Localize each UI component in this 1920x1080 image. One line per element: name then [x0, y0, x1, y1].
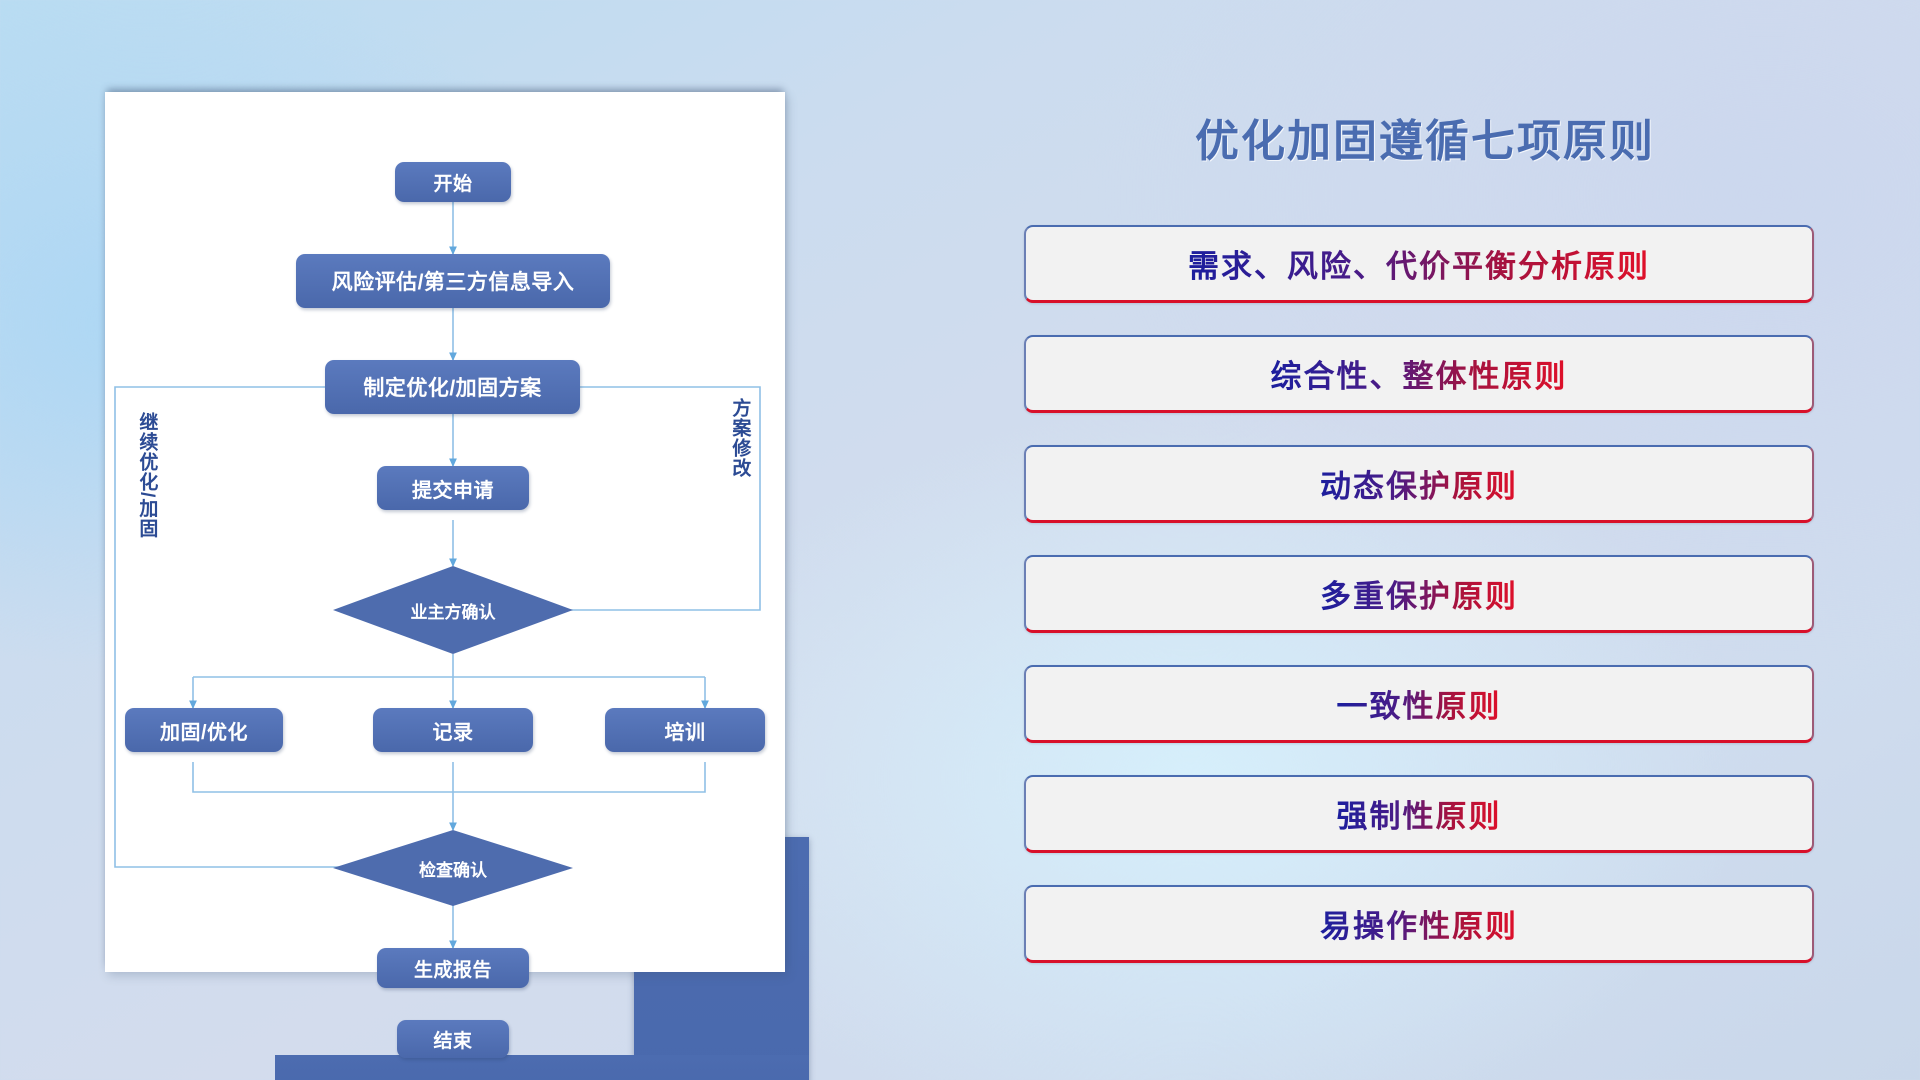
principle-label: 易操作性原则	[1320, 901, 1518, 946]
flow-node-training[interactable]: 培训	[605, 708, 765, 752]
principle-label: 综合性、整体性原则	[1271, 351, 1568, 396]
principle-label: 多重保护原则	[1320, 571, 1518, 616]
principles-title: 优化加固遵循七项原则	[1020, 105, 1830, 169]
flow-node-record[interactable]: 记录	[373, 708, 533, 752]
principle-item[interactable]: 多重保护原则	[1024, 555, 1814, 633]
flow-node-generate-report[interactable]: 生成报告	[377, 948, 529, 988]
flow-edge-label-plan-revision: 方案修改	[730, 398, 749, 478]
flow-node-make-plan[interactable]: 制定优化/加固方案	[325, 360, 580, 414]
principle-item[interactable]: 动态保护原则	[1024, 445, 1814, 523]
flow-node-end[interactable]: 结束	[397, 1020, 509, 1058]
principles-panel: 优化加固遵循七项原则 需求、风险、代价平衡分析原则 综合性、整体性原则 动态保护…	[1020, 100, 1830, 1000]
card-accent-block-horizontal	[275, 1055, 809, 1080]
principle-item[interactable]: 综合性、整体性原则	[1024, 335, 1814, 413]
principle-item[interactable]: 强制性原则	[1024, 775, 1814, 853]
principle-item[interactable]: 一致性原则	[1024, 665, 1814, 743]
principle-item[interactable]: 易操作性原则	[1024, 885, 1814, 963]
principles-list: 需求、风险、代价平衡分析原则 综合性、整体性原则 动态保护原则 多重保护原则 一…	[1024, 225, 1814, 995]
principle-label: 一致性原则	[1337, 681, 1502, 726]
flow-edge-label-continue-optimize: 继续优化/加固	[137, 412, 156, 538]
flow-node-start[interactable]: 开始	[395, 162, 511, 202]
principle-label: 动态保护原则	[1320, 461, 1518, 506]
flow-node-reinforce-optimize[interactable]: 加固/优化	[125, 708, 283, 752]
principle-label: 需求、风险、代价平衡分析原则	[1188, 241, 1650, 286]
flowchart-panel: 开始 风险评估/第三方信息导入 制定优化/加固方案 提交申请 业主方确认 加固/…	[105, 92, 785, 972]
flowchart-card: 开始 风险评估/第三方信息导入 制定优化/加固方案 提交申请 业主方确认 加固/…	[105, 92, 785, 972]
principle-label: 强制性原则	[1337, 791, 1502, 836]
principle-item[interactable]: 需求、风险、代价平衡分析原则	[1024, 225, 1814, 303]
flow-node-submit-application[interactable]: 提交申请	[377, 466, 529, 510]
flow-node-risk-assessment[interactable]: 风险评估/第三方信息导入	[296, 254, 610, 308]
